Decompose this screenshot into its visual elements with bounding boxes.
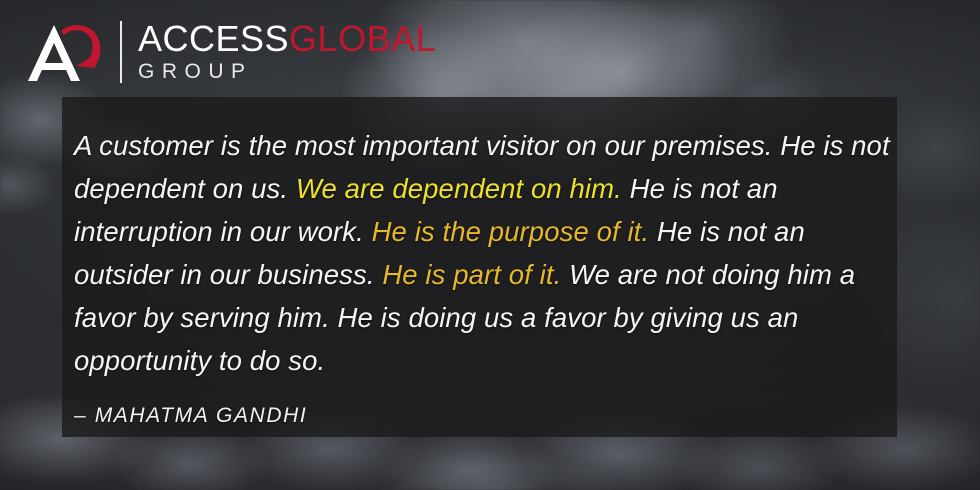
logo-word-global: GLOBAL xyxy=(289,18,436,59)
logo-divider xyxy=(120,21,122,83)
logo-wordmark: ACCESSGLOBAL GROUP xyxy=(138,20,436,84)
brand-logo[interactable]: ACCESSGLOBAL GROUP xyxy=(28,14,436,90)
quote-highlight-3: He is part of it. xyxy=(382,259,561,290)
quote-attribution: – MAHATMA GANDHI xyxy=(74,403,307,429)
quote-text: A customer is the most important visitor… xyxy=(74,124,894,382)
quote-highlight-2: He is the purpose of it. xyxy=(372,216,650,247)
logo-word-access: ACCESS xyxy=(138,18,289,59)
quote-graphic-canvas: ACCESSGLOBAL GROUP A customer is the mos… xyxy=(0,0,980,490)
access-global-ag-monogram-icon xyxy=(28,19,114,85)
logo-word-group: GROUP xyxy=(138,60,436,84)
quote-highlight-1: We are dependent on him. xyxy=(296,173,622,204)
